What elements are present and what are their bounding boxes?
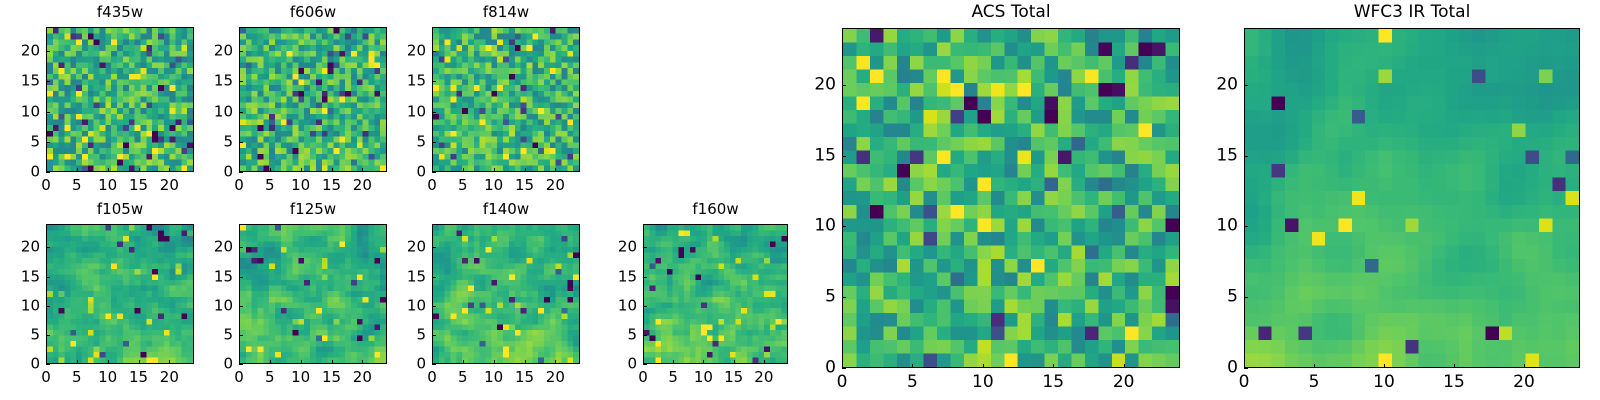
y-tick-f140w-1 (432, 335, 436, 336)
y-tick-label-f814w-0: 0 (416, 165, 426, 180)
x-tick-label-f140w-1: 5 (458, 370, 468, 385)
panel-f435w: f435w0510152005101520 (46, 3, 194, 196)
y-tick-f435w-2 (46, 112, 50, 113)
x-tick-f125w-4 (362, 360, 363, 364)
y-tick-label-f606w-4: 20 (214, 44, 233, 59)
x-tick-label-f105w-4: 20 (160, 370, 179, 385)
y-tick-acs-total-3 (842, 156, 846, 157)
heatmap-canvas-f606w (240, 28, 386, 171)
y-tick-f435w-0 (46, 172, 50, 173)
x-tick-label-f435w-2: 10 (98, 178, 117, 193)
x-tick-f814w-3 (525, 168, 526, 172)
y-tick-wfc3-ir-total-0 (1244, 368, 1248, 369)
x-tick-label-wfc3-ir-total-4: 20 (1513, 374, 1535, 391)
panel-title-f606w: f606w (239, 5, 387, 20)
x-tick-label-f105w-0: 0 (41, 370, 51, 385)
y-tick-f105w-3 (46, 277, 50, 278)
y-tick-label-f140w-2: 10 (407, 298, 426, 313)
y-tick-wfc3-ir-total-2 (1244, 226, 1248, 227)
y-tick-label-f435w-3: 15 (21, 74, 40, 89)
panel-title-f125w: f125w (239, 202, 387, 217)
y-tick-label-f140w-4: 20 (407, 240, 426, 255)
heatmap-canvas-f435w (47, 28, 193, 171)
x-tick-label-f160w-2: 10 (694, 370, 713, 385)
y-tick-label-f606w-0: 0 (223, 165, 233, 180)
y-tick-label-acs-total-2: 10 (814, 218, 836, 235)
x-tick-label-f105w-3: 15 (129, 370, 148, 385)
y-tick-f814w-3 (432, 81, 436, 82)
panel-title-f814w: f814w (432, 5, 580, 20)
panel-acs-total: ACS Total0510152005101520 (842, 4, 1180, 392)
x-tick-f140w-4 (555, 360, 556, 364)
heatmap-f125w (239, 224, 387, 364)
x-tick-label-f125w-1: 5 (265, 370, 275, 385)
y-tick-acs-total-2 (842, 226, 846, 227)
panel-title-wfc3-ir-total: WFC3 IR Total (1244, 4, 1580, 21)
x-tick-label-f140w-4: 20 (546, 370, 565, 385)
x-tick-f125w-2 (301, 360, 302, 364)
y-tick-label-f125w-3: 15 (214, 269, 233, 284)
y-tick-label-f140w-3: 15 (407, 269, 426, 284)
y-tick-f814w-4 (432, 51, 436, 52)
x-tick-f435w-2 (108, 168, 109, 172)
x-tick-label-acs-total-0: 0 (837, 374, 848, 391)
panel-f140w: f140w0510152005101520 (432, 200, 580, 388)
y-tick-label-f160w-1: 5 (627, 327, 637, 342)
y-tick-label-f160w-4: 20 (618, 240, 637, 255)
y-tick-label-f160w-2: 10 (618, 298, 637, 313)
y-tick-f606w-1 (239, 142, 243, 143)
x-tick-f606w-2 (301, 168, 302, 172)
y-tick-f160w-3 (643, 277, 647, 278)
y-tick-f160w-4 (643, 247, 647, 248)
x-tick-label-f814w-4: 20 (546, 178, 565, 193)
y-tick-label-f814w-2: 10 (407, 104, 426, 119)
y-tick-f435w-4 (46, 51, 50, 52)
x-tick-label-f814w-0: 0 (427, 178, 437, 193)
x-tick-label-wfc3-ir-total-1: 5 (1309, 374, 1320, 391)
y-tick-label-f814w-4: 20 (407, 44, 426, 59)
heatmap-acs-total (842, 28, 1180, 368)
x-tick-label-wfc3-ir-total-3: 15 (1443, 374, 1465, 391)
panel-f125w: f125w0510152005101520 (239, 200, 387, 388)
x-tick-f140w-1 (463, 360, 464, 364)
x-tick-label-wfc3-ir-total-0: 0 (1239, 374, 1250, 391)
heatmap-canvas-f125w (240, 225, 386, 363)
y-tick-label-f125w-4: 20 (214, 240, 233, 255)
x-tick-label-f606w-2: 10 (291, 178, 310, 193)
x-tick-f105w-3 (139, 360, 140, 364)
y-tick-f435w-3 (46, 81, 50, 82)
x-tick-f606w-1 (270, 168, 271, 172)
y-tick-wfc3-ir-total-4 (1244, 85, 1248, 86)
x-tick-label-f814w-3: 15 (515, 178, 534, 193)
heatmap-canvas-f814w (433, 28, 579, 171)
heatmap-f140w (432, 224, 580, 364)
y-tick-label-f814w-1: 5 (416, 134, 426, 149)
x-tick-f814w-1 (463, 168, 464, 172)
x-tick-acs-total-3 (1053, 364, 1054, 368)
y-tick-label-f606w-2: 10 (214, 104, 233, 119)
y-tick-f160w-2 (643, 306, 647, 307)
y-tick-wfc3-ir-total-1 (1244, 297, 1248, 298)
x-tick-label-f160w-3: 15 (724, 370, 743, 385)
x-tick-label-f140w-2: 10 (484, 370, 503, 385)
x-tick-label-f160w-4: 20 (754, 370, 773, 385)
x-tick-f606w-3 (332, 168, 333, 172)
heatmap-wfc3-ir-total (1244, 28, 1580, 368)
y-tick-label-f606w-1: 5 (223, 134, 233, 149)
panel-title-f105w: f105w (46, 202, 194, 217)
x-tick-label-f125w-4: 20 (353, 370, 372, 385)
y-tick-label-f125w-1: 5 (223, 327, 233, 342)
heatmap-canvas-f105w (47, 225, 193, 363)
y-tick-f140w-3 (432, 277, 436, 278)
heatmap-f435w (46, 27, 194, 172)
heatmap-canvas-wfc3-ir-total (1245, 29, 1579, 367)
x-tick-acs-total-1 (912, 364, 913, 368)
y-tick-wfc3-ir-total-3 (1244, 156, 1248, 157)
y-tick-f606w-0 (239, 172, 243, 173)
x-tick-f160w-3 (734, 360, 735, 364)
y-tick-f160w-0 (643, 364, 647, 365)
y-tick-f140w-0 (432, 364, 436, 365)
x-tick-label-f435w-1: 5 (72, 178, 82, 193)
y-tick-f125w-2 (239, 306, 243, 307)
x-tick-label-acs-total-1: 5 (907, 374, 918, 391)
y-tick-label-f105w-2: 10 (21, 298, 40, 313)
heatmap-f105w (46, 224, 194, 364)
x-tick-label-f125w-2: 10 (291, 370, 310, 385)
figure-canvas: f435w0510152005101520f606w05101520051015… (0, 0, 1600, 400)
x-tick-f435w-4 (169, 168, 170, 172)
x-tick-label-acs-total-2: 10 (972, 374, 994, 391)
y-tick-f105w-4 (46, 247, 50, 248)
panel-f606w: f606w0510152005101520 (239, 3, 387, 196)
y-tick-f125w-0 (239, 364, 243, 365)
x-tick-label-f814w-2: 10 (484, 178, 503, 193)
x-tick-label-acs-total-4: 20 (1113, 374, 1135, 391)
y-tick-label-f606w-3: 15 (214, 74, 233, 89)
y-tick-f606w-2 (239, 112, 243, 113)
x-tick-label-f140w-0: 0 (427, 370, 437, 385)
x-tick-label-f105w-2: 10 (98, 370, 117, 385)
x-tick-acs-total-2 (983, 364, 984, 368)
x-tick-acs-total-4 (1124, 364, 1125, 368)
x-tick-label-f140w-3: 15 (515, 370, 534, 385)
x-tick-label-f105w-1: 5 (72, 370, 82, 385)
y-tick-label-f105w-1: 5 (30, 327, 40, 342)
x-tick-f435w-1 (77, 168, 78, 172)
x-tick-label-f160w-1: 5 (668, 370, 678, 385)
y-tick-f814w-0 (432, 172, 436, 173)
y-tick-label-wfc3-ir-total-3: 15 (1216, 147, 1238, 164)
x-tick-label-f814w-1: 5 (458, 178, 468, 193)
x-tick-f160w-4 (764, 360, 765, 364)
x-tick-f606w-4 (362, 168, 363, 172)
panel-f814w: f814w0510152005101520 (432, 3, 580, 196)
x-tick-label-f606w-1: 5 (265, 178, 275, 193)
x-tick-f140w-3 (525, 360, 526, 364)
panel-title-f435w: f435w (46, 5, 194, 20)
y-tick-label-f435w-2: 10 (21, 104, 40, 119)
y-tick-acs-total-1 (842, 297, 846, 298)
y-tick-label-f105w-3: 15 (21, 269, 40, 284)
x-tick-label-f160w-0: 0 (638, 370, 648, 385)
x-tick-label-f435w-0: 0 (41, 178, 51, 193)
panel-title-acs-total: ACS Total (842, 4, 1180, 21)
y-tick-f140w-2 (432, 306, 436, 307)
y-tick-label-f814w-3: 15 (407, 74, 426, 89)
y-tick-f140w-4 (432, 247, 436, 248)
y-tick-f435w-1 (46, 142, 50, 143)
x-tick-label-acs-total-3: 15 (1042, 374, 1064, 391)
heatmap-f160w (643, 224, 788, 364)
y-tick-f125w-3 (239, 277, 243, 278)
x-tick-f814w-2 (494, 168, 495, 172)
panel-f105w: f105w0510152005101520 (46, 200, 194, 388)
y-tick-label-wfc3-ir-total-4: 20 (1216, 76, 1238, 93)
y-tick-f160w-1 (643, 335, 647, 336)
y-tick-f105w-1 (46, 335, 50, 336)
y-tick-f814w-1 (432, 142, 436, 143)
x-tick-f160w-2 (703, 360, 704, 364)
x-tick-f105w-2 (108, 360, 109, 364)
y-tick-label-f105w-4: 20 (21, 240, 40, 255)
x-tick-label-f125w-0: 0 (234, 370, 244, 385)
x-tick-f105w-1 (77, 360, 78, 364)
y-tick-label-f140w-1: 5 (416, 327, 426, 342)
x-tick-label-f435w-4: 20 (160, 178, 179, 193)
y-tick-f125w-4 (239, 247, 243, 248)
y-tick-acs-total-0 (842, 368, 846, 369)
x-tick-wfc3-ir-total-3 (1454, 364, 1455, 368)
y-tick-label-acs-total-3: 15 (814, 147, 836, 164)
panel-wfc3-ir-total: WFC3 IR Total0510152005101520 (1244, 4, 1580, 392)
x-tick-f140w-2 (494, 360, 495, 364)
heatmap-f606w (239, 27, 387, 172)
y-tick-label-f435w-1: 5 (30, 134, 40, 149)
x-tick-label-f435w-3: 15 (129, 178, 148, 193)
y-tick-f105w-0 (46, 364, 50, 365)
heatmap-canvas-f140w (433, 225, 579, 363)
x-tick-f125w-3 (332, 360, 333, 364)
y-tick-label-f435w-0: 0 (30, 165, 40, 180)
y-tick-label-f435w-4: 20 (21, 44, 40, 59)
heatmap-canvas-f160w (644, 225, 787, 363)
y-tick-f606w-3 (239, 81, 243, 82)
y-tick-f105w-2 (46, 306, 50, 307)
x-tick-f105w-4 (169, 360, 170, 364)
y-tick-acs-total-4 (842, 85, 846, 86)
y-tick-label-acs-total-0: 0 (825, 360, 836, 377)
x-tick-label-f606w-4: 20 (353, 178, 372, 193)
x-tick-label-f606w-0: 0 (234, 178, 244, 193)
panel-title-f140w: f140w (432, 202, 580, 217)
y-tick-label-wfc3-ir-total-0: 0 (1227, 360, 1238, 377)
y-tick-label-f160w-3: 15 (618, 269, 637, 284)
y-tick-f814w-2 (432, 112, 436, 113)
x-tick-label-f125w-3: 15 (322, 370, 341, 385)
panel-f160w: f160w0510152005101520 (643, 200, 788, 388)
x-tick-label-wfc3-ir-total-2: 10 (1373, 374, 1395, 391)
heatmap-f814w (432, 27, 580, 172)
x-tick-wfc3-ir-total-2 (1384, 364, 1385, 368)
y-tick-label-f125w-2: 10 (214, 298, 233, 313)
x-tick-f160w-1 (673, 360, 674, 364)
x-tick-f814w-4 (555, 168, 556, 172)
y-tick-label-f105w-0: 0 (30, 357, 40, 372)
x-tick-wfc3-ir-total-4 (1524, 364, 1525, 368)
y-tick-label-f160w-0: 0 (627, 357, 637, 372)
x-tick-f125w-1 (270, 360, 271, 364)
x-tick-label-f606w-3: 15 (322, 178, 341, 193)
y-tick-label-wfc3-ir-total-2: 10 (1216, 218, 1238, 235)
x-tick-f435w-3 (139, 168, 140, 172)
y-tick-label-acs-total-4: 20 (814, 76, 836, 93)
y-tick-label-wfc3-ir-total-1: 5 (1227, 289, 1238, 306)
y-tick-label-acs-total-1: 5 (825, 289, 836, 306)
y-tick-f606w-4 (239, 51, 243, 52)
panel-title-f160w: f160w (643, 202, 788, 217)
y-tick-label-f140w-0: 0 (416, 357, 426, 372)
y-tick-f125w-1 (239, 335, 243, 336)
x-tick-wfc3-ir-total-1 (1314, 364, 1315, 368)
y-tick-label-f125w-0: 0 (223, 357, 233, 372)
heatmap-canvas-acs-total (843, 29, 1179, 367)
